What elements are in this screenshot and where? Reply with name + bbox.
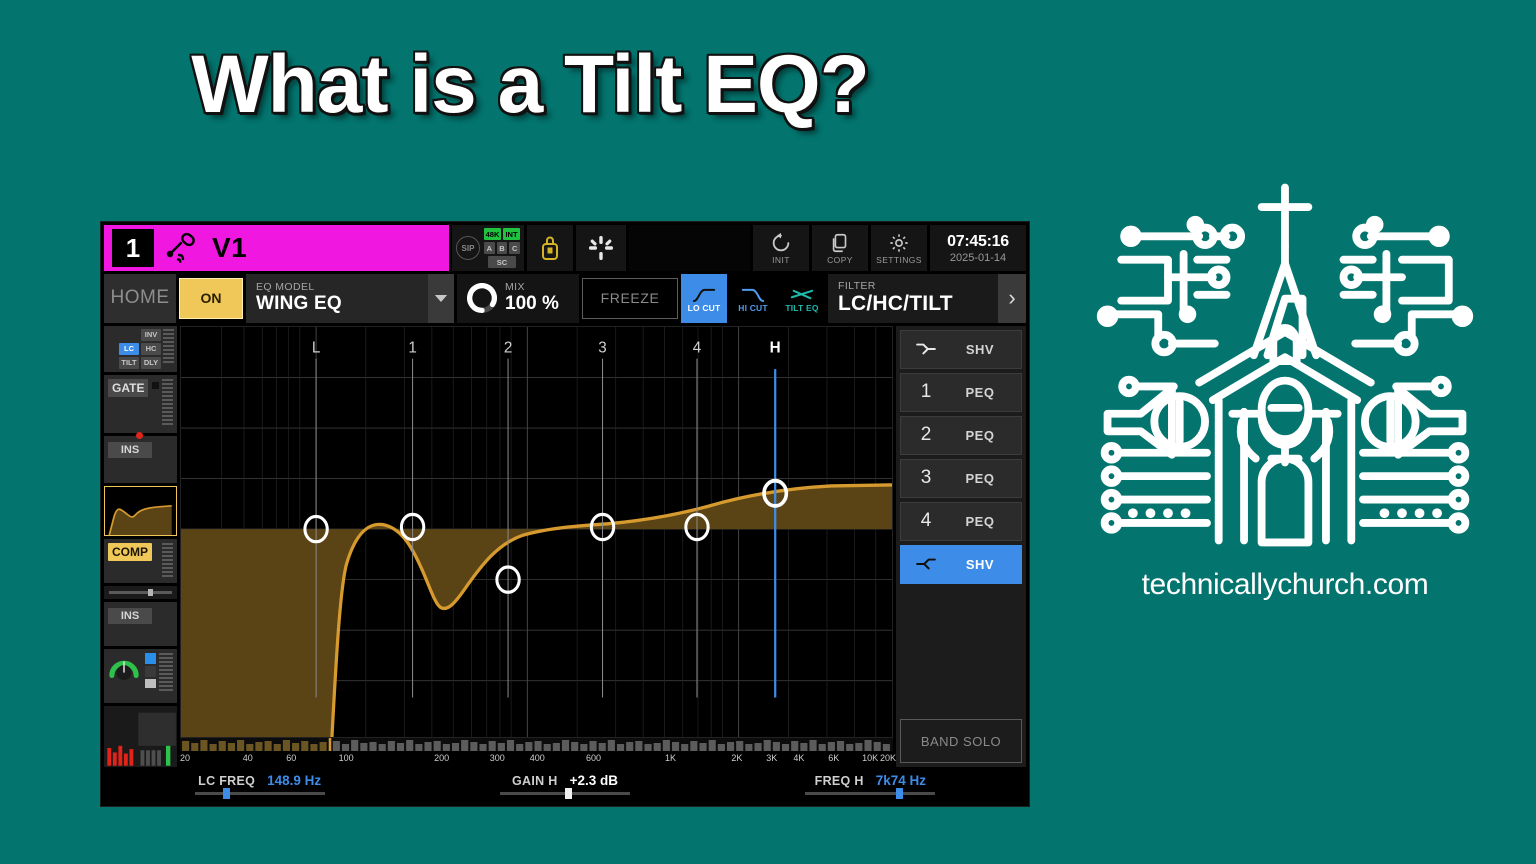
chip-int: INT xyxy=(503,228,520,240)
clock-display[interactable]: 07:45:16 2025-01-14 xyxy=(930,225,1026,271)
gate-label: GATE xyxy=(108,379,148,397)
band-button-high-shelf[interactable]: SHV xyxy=(900,545,1022,584)
band-type-2: PEQ xyxy=(949,428,1011,443)
band-type-4: PEQ xyxy=(949,514,1011,529)
freq-tick-10: 3K xyxy=(766,753,777,763)
chip-sc: SC xyxy=(488,256,516,268)
logo-url-text: technicallychurch.com xyxy=(1142,568,1429,602)
band-button-4[interactable]: 4 PEQ xyxy=(900,502,1022,541)
channel-number: 1 xyxy=(112,229,154,267)
channel-processing-strip: INV LC HC TILT DLY xyxy=(104,326,177,768)
band-button-low-shelf[interactable]: SHV xyxy=(900,330,1022,369)
band-type-1: PEQ xyxy=(949,385,1011,400)
channel-name-bar[interactable]: 1 V1 xyxy=(104,225,449,271)
filter-row-tilt-dly: TILT DLY xyxy=(107,357,161,369)
band-solo-button[interactable]: BAND SOLO xyxy=(900,719,1022,763)
mix-knob-icon xyxy=(467,283,497,313)
freq-tick-1: 40 xyxy=(243,753,253,763)
param-freq-h-value: 7k74 Hz xyxy=(876,773,926,788)
settings-label: SETTINGS xyxy=(876,255,922,265)
filter-select[interactable]: FILTER LC/HC/TILT › xyxy=(828,274,1026,323)
chip-bus-a: A xyxy=(484,242,495,254)
freeze-button[interactable]: FREEZE xyxy=(582,278,678,319)
hi-cut-curve-icon xyxy=(741,287,765,302)
band-number-4: 4 xyxy=(911,510,941,532)
band-number-3: 3 xyxy=(911,467,941,489)
tilt-eq-toggle[interactable]: TILT EQ xyxy=(779,274,825,323)
tilt-eq-icon xyxy=(790,287,814,302)
chip-lc[interactable]: LC xyxy=(119,343,139,355)
clock-time: 07:45:16 xyxy=(947,233,1009,251)
spectrum-bars-icon xyxy=(180,738,893,751)
svg-text:4: 4 xyxy=(693,339,702,356)
status-indicator-block[interactable]: SIP 48K INT A B C SC xyxy=(452,225,524,271)
svg-text:2: 2 xyxy=(504,339,512,356)
param-freq-h-knob[interactable] xyxy=(896,788,903,799)
hi-cut-label: HI CUT xyxy=(738,303,768,313)
eq-control-bar: HOME ON EQ MODEL WING EQ MIX 100 % FREEZ… xyxy=(101,274,1029,326)
param-lc-freq-name: LC FREQ xyxy=(198,774,255,788)
status-chip-grid: 48K INT A B C SC xyxy=(484,228,520,268)
freq-tick-5: 300 xyxy=(490,753,505,763)
eq-model-value: WING EQ xyxy=(256,293,342,315)
param-gain-h-knob[interactable] xyxy=(565,788,572,799)
param-lc-freq-slider[interactable] xyxy=(195,792,325,795)
insert-block-1[interactable]: INS xyxy=(104,436,177,483)
param-lc-freq-value: 148.9 Hz xyxy=(267,773,321,788)
init-label: INIT xyxy=(772,255,790,265)
pan-knob-icon xyxy=(108,653,140,681)
gate-meter xyxy=(162,379,173,426)
mix-value: 100 % xyxy=(505,293,559,315)
svg-text:3: 3 xyxy=(598,339,606,356)
filter-row-inv: INV xyxy=(107,329,161,341)
eq-graph-svg: L 1 2 3 4 H xyxy=(181,327,892,738)
band-type-3: PEQ xyxy=(949,471,1011,486)
high-shelf-icon xyxy=(911,556,941,572)
mixing-console-screen: 1 V1 SIP 48K INT xyxy=(100,221,1030,807)
lo-cut-curve-icon xyxy=(692,287,716,302)
copy-button[interactable]: COPY xyxy=(812,225,868,271)
strip-fader[interactable] xyxy=(104,586,177,599)
tilt-eq-label: TILT EQ xyxy=(785,303,818,313)
init-button[interactable]: INIT xyxy=(753,225,809,271)
eq-model-select[interactable]: EQ MODEL WING EQ xyxy=(246,274,454,323)
lo-cut-toggle[interactable]: LO CUT xyxy=(681,274,727,323)
pan-chips xyxy=(145,653,156,688)
param-lc-freq[interactable]: LC FREQ 148.9 Hz xyxy=(109,770,410,806)
low-shelf-icon xyxy=(911,341,941,357)
status-chip-row-3: SC xyxy=(484,256,520,268)
band-type-low-shelf: SHV xyxy=(949,342,1011,357)
spectrum-ruler xyxy=(180,738,893,751)
header-spacer xyxy=(629,225,750,271)
level-meters-icon xyxy=(104,706,177,768)
comp-meter xyxy=(162,543,173,578)
filter-block[interactable]: INV LC HC TILT DLY xyxy=(104,326,177,372)
filter-value: LC/HC/TILT xyxy=(838,292,953,316)
freq-tick-6: 400 xyxy=(530,753,545,763)
pan-chip-mono xyxy=(145,679,156,688)
church-circuit-logo xyxy=(1090,170,1480,560)
fx-burst-icon xyxy=(588,235,614,261)
chip-dly[interactable]: DLY xyxy=(141,357,161,369)
freq-tick-0: 20 xyxy=(180,753,190,763)
band-button-1[interactable]: 1 PEQ xyxy=(900,373,1022,412)
freq-tick-3: 100 xyxy=(339,753,354,763)
param-gain-h-slider[interactable] xyxy=(500,792,630,795)
hi-cut-toggle[interactable]: HI CUT xyxy=(730,274,776,323)
mix-control[interactable]: MIX 100 % xyxy=(457,274,579,323)
band-panel-spacer xyxy=(900,588,1022,716)
undo-icon xyxy=(770,232,792,254)
clock-date: 2025-01-14 xyxy=(950,252,1006,264)
freq-tick-12: 6K xyxy=(828,753,839,763)
insert-block-2[interactable]: INS xyxy=(104,602,177,645)
fx-button[interactable] xyxy=(576,225,626,271)
chip-inv[interactable]: INV xyxy=(141,329,161,341)
band-button-3[interactable]: 3 PEQ xyxy=(900,459,1022,498)
parameter-strip: LC FREQ 148.9 Hz GAIN H +2.3 dB FREQ H 7… xyxy=(101,767,1029,806)
eq-graph-panel: L 1 2 3 4 H xyxy=(180,326,893,768)
chevron-down-icon[interactable] xyxy=(428,274,454,323)
sip-button[interactable]: SIP xyxy=(456,236,480,260)
insert-active-led xyxy=(136,432,143,439)
eq-model-label: EQ MODEL xyxy=(256,281,342,293)
chip-tilt[interactable]: TILT xyxy=(119,357,139,369)
param-freq-h[interactable]: FREQ H 7k74 Hz xyxy=(720,770,1021,806)
copy-icon xyxy=(829,232,851,254)
param-freq-h-name: FREQ H xyxy=(815,774,864,788)
filter-meter xyxy=(163,329,174,364)
svg-text:L: L xyxy=(312,339,321,356)
channel-label: V1 xyxy=(212,232,247,264)
param-lc-freq-head: LC FREQ 148.9 Hz xyxy=(198,773,321,788)
freq-tick-13: 10K xyxy=(862,753,878,763)
chip-hc[interactable]: HC xyxy=(141,343,161,355)
gate-led xyxy=(152,382,159,389)
freq-tick-14: 20K xyxy=(880,753,896,763)
band-number-1: 1 xyxy=(911,381,941,403)
level-meter-block xyxy=(104,706,177,768)
freq-tick-7: 600 xyxy=(586,753,601,763)
insert-label-2: INS xyxy=(108,608,152,624)
usb-lock-icon xyxy=(539,234,561,262)
freq-tick-2: 60 xyxy=(286,753,296,763)
home-button[interactable]: HOME xyxy=(104,274,176,323)
param-gain-h[interactable]: GAIN H +2.3 dB xyxy=(414,770,715,806)
page-title: What is a Tilt EQ? xyxy=(0,44,1060,126)
svg-text:1: 1 xyxy=(408,339,416,356)
brand-logo-block: technicallychurch.com xyxy=(1085,170,1485,602)
compressor-block[interactable]: COMP xyxy=(104,539,177,584)
fader-track[interactable] xyxy=(109,591,172,594)
status-chip-row-2: A B C xyxy=(484,242,520,254)
pan-chip-sub xyxy=(145,666,156,677)
gate-block[interactable]: GATE xyxy=(104,375,177,433)
eq-main-area: INV LC HC TILT DLY xyxy=(101,326,1029,768)
copy-label: COPY xyxy=(827,255,853,265)
eq-on-button[interactable]: ON xyxy=(179,278,243,319)
settings-button[interactable]: SETTINGS xyxy=(871,225,927,271)
frequency-axis: 20 40 60 100 200 300 400 600 1K 2K 3K 4K… xyxy=(180,751,893,767)
band-selector-panel: SHV 1 PEQ 2 PEQ 3 PEQ 4 PEQ xyxy=(896,326,1026,768)
svg-text:H: H xyxy=(770,339,781,356)
band-type-high-shelf: SHV xyxy=(949,557,1011,572)
freq-tick-4: 200 xyxy=(434,753,449,763)
param-lc-freq-knob[interactable] xyxy=(223,788,230,799)
freq-tick-11: 4K xyxy=(793,753,804,763)
freq-tick-8: 1K xyxy=(665,753,676,763)
param-freq-h-slider[interactable] xyxy=(805,792,935,795)
mix-label: MIX xyxy=(505,281,559,293)
comp-label: COMP xyxy=(108,543,152,561)
status-chip-row-1: 48K INT xyxy=(484,228,520,240)
microphone-wireless-icon xyxy=(164,232,202,264)
chip-bus-b: B xyxy=(497,242,508,254)
freq-tick-9: 2K xyxy=(731,753,742,763)
chevron-right-icon[interactable]: › xyxy=(998,274,1026,323)
pan-chip-main xyxy=(145,653,156,664)
output-meter xyxy=(159,653,173,692)
console-header-bar: 1 V1 SIP 48K INT xyxy=(101,222,1029,274)
fader-knob[interactable] xyxy=(148,589,153,596)
insert-label-1: INS xyxy=(108,442,152,458)
param-freq-h-head: FREQ H 7k74 Hz xyxy=(815,773,926,788)
band-number-2: 2 xyxy=(911,424,941,446)
eq-response-graph[interactable]: L 1 2 3 4 H xyxy=(180,326,893,739)
filter-chip-grid: INV LC HC TILT DLY xyxy=(107,329,161,369)
band-button-2[interactable]: 2 PEQ xyxy=(900,416,1022,455)
param-gain-h-name: GAIN H xyxy=(512,774,558,788)
filter-label: FILTER xyxy=(838,280,953,292)
eq-thumbnail-block[interactable] xyxy=(104,486,177,536)
pan-block[interactable] xyxy=(104,649,177,703)
chip-48k: 48K xyxy=(484,228,501,240)
usb-lock-button[interactable] xyxy=(527,225,573,271)
chip-bus-c: C xyxy=(509,242,520,254)
param-gain-h-value: +2.3 dB xyxy=(570,773,618,788)
gear-icon xyxy=(888,232,910,254)
filter-row-lc-hc: LC HC xyxy=(107,343,161,355)
param-gain-h-head: GAIN H +2.3 dB xyxy=(512,773,618,788)
lo-cut-label: LO CUT xyxy=(688,303,721,313)
eq-curve-thumbnail xyxy=(105,487,176,535)
